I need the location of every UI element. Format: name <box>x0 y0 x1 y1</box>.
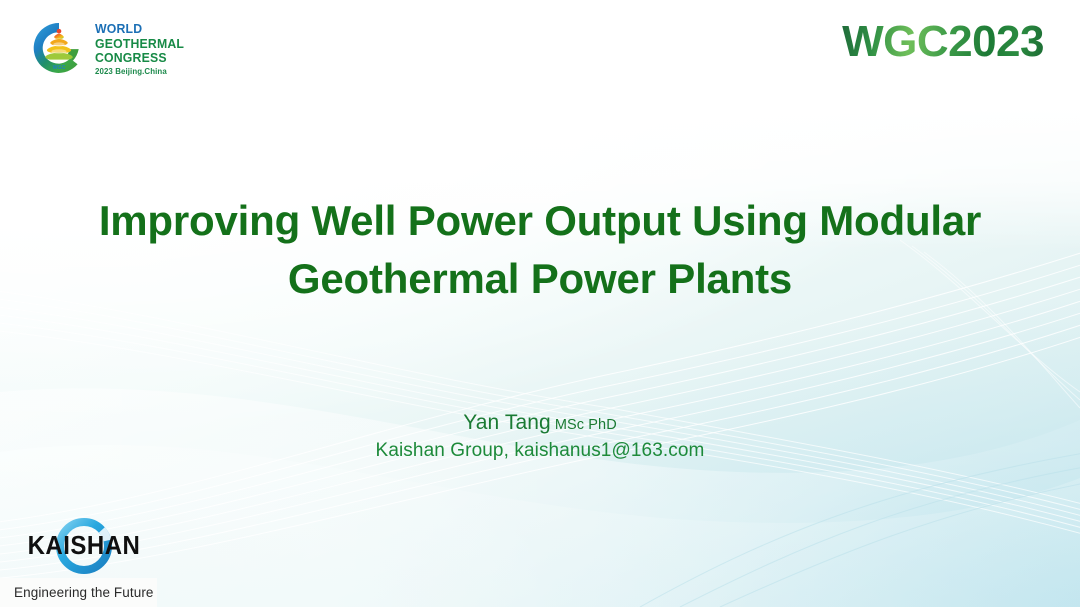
svg-text:KAISHAN: KAISHAN <box>28 532 141 560</box>
wgc-logo-line-world: WORLD <box>95 22 184 35</box>
slide-title-line-2: Geothermal Power Plants <box>26 250 1054 308</box>
slide-title-line-1: Improving Well Power Output Using Modula… <box>26 192 1054 250</box>
kaishan-company-logo: KAISHAN <box>14 517 154 579</box>
author-block: Yan TangMSc PhD Kaishan Group, kaishanus… <box>0 410 1080 464</box>
slide-title: Improving Well Power Output Using Modula… <box>0 192 1080 308</box>
author-affiliation: Kaishan Group, kaishanus1@163.com <box>0 438 1080 464</box>
wgc-logo-line-geothermal: GEOTHERMAL <box>95 37 184 50</box>
author-name-row: Yan TangMSc PhD <box>0 410 1080 438</box>
wgc-logo-subtitle: 2023 Beijing.China <box>95 67 186 75</box>
wgc-logo-text: WORLD GEOTHERMAL CONGRESS 2023 Beijing.C… <box>95 21 191 75</box>
wgc-logo-line-congress: CONGRESS <box>95 51 184 64</box>
author-degrees: MSc PhD <box>555 417 617 433</box>
kaishan-tagline-band: Engineering the Future <box>0 578 157 607</box>
title-slide: WGC WORLD GEOTHERMAL CONGRESS 2023 Beiji… <box>0 0 1080 607</box>
wgc-congress-logo: WGC WORLD GEOTHERMAL CONGRESS 2023 Beiji… <box>30 16 175 80</box>
kaishan-tagline: Engineering the Future <box>0 585 154 600</box>
wgc-circular-logo-icon: WGC <box>30 19 88 77</box>
svg-text:WGC: WGC <box>53 65 66 71</box>
author-name: Yan Tang <box>463 411 551 434</box>
wgc2023-wordmark: WGC2023 <box>842 20 1044 64</box>
kaishan-ring-logo-icon: KAISHAN <box>14 517 154 579</box>
